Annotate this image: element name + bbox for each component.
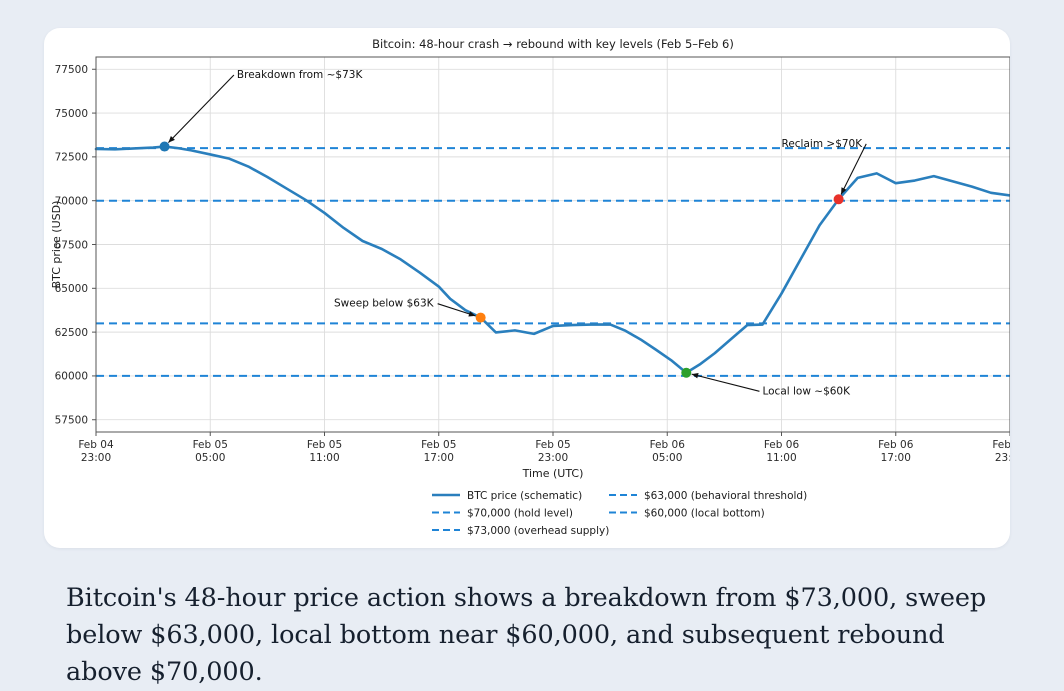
page-root: Breakdown from ~$73KSweep below $63KLoca… (0, 0, 1064, 688)
x-tick-label-7: Feb 0617:00 (878, 439, 914, 464)
annotation-arrow-reclaim (841, 144, 866, 194)
chart-legend: BTC price (schematic)$70,000 (hold level… (432, 490, 807, 537)
x-tick-label-2: Feb 0511:00 (307, 439, 342, 464)
x-tick-label-1: Feb 0505:00 (193, 439, 228, 464)
chart-title-group: Bitcoin: 48-hour crash → rebound with ke… (372, 37, 734, 51)
marker-sweep (476, 313, 486, 323)
marker-reclaim (834, 194, 844, 204)
x-tick-label-5: Feb 0605:00 (650, 439, 686, 464)
x-tick-label-8: Feb 0623:00 (992, 439, 1010, 464)
annotations: Breakdown from ~$73KSweep below $63KLoca… (160, 69, 867, 397)
y-tick-label-2: 62500 (55, 327, 88, 339)
annotation-label-reclaim: Reclaim >$70K (782, 138, 864, 150)
figure-caption: Bitcoin's 48-hour price action shows a b… (66, 580, 1016, 691)
marker-breakdown (160, 142, 170, 152)
y-axis-title: BTC price (USD) (50, 201, 63, 289)
y-tick-label-6: 72500 (55, 152, 88, 164)
y-tick-label-8: 77500 (55, 64, 88, 76)
legend-label-0: BTC price (schematic) (467, 490, 582, 502)
chart-card: Breakdown from ~$73KSweep below $63KLoca… (44, 28, 1010, 548)
legend-label-1: $70,000 (hold level) (467, 507, 573, 519)
legend-label-4: $60,000 (local bottom) (644, 507, 765, 519)
marker-local-low (681, 368, 691, 378)
axis-ticks: 5750060000625006500067500700007250075000… (55, 64, 1010, 464)
annotation-arrow-breakdown (168, 75, 234, 143)
bitcoin-price-chart: Breakdown from ~$73KSweep below $63KLoca… (44, 28, 1010, 548)
x-tick-label-0: Feb 0423:00 (78, 439, 114, 464)
annotation-label-breakdown: Breakdown from ~$73K (237, 69, 364, 81)
x-tick-label-4: Feb 0523:00 (535, 439, 570, 464)
y-tick-label-1: 60000 (55, 371, 88, 383)
legend-label-3: $63,000 (behavioral threshold) (644, 490, 807, 502)
y-tick-label-0: 57500 (55, 415, 88, 427)
x-tick-label-6: Feb 0611:00 (764, 439, 800, 464)
annotation-label-sweep: Sweep below $63K (334, 298, 435, 310)
y-tick-label-7: 75000 (55, 108, 88, 120)
x-axis-title: Time (UTC) (522, 467, 584, 480)
legend-label-2: $73,000 (overhead supply) (467, 525, 609, 537)
x-tick-label-3: Feb 0517:00 (421, 439, 456, 464)
annotation-label-local-low: Local low ~$60K (762, 385, 851, 397)
chart-title: Bitcoin: 48-hour crash → rebound with ke… (372, 37, 734, 51)
